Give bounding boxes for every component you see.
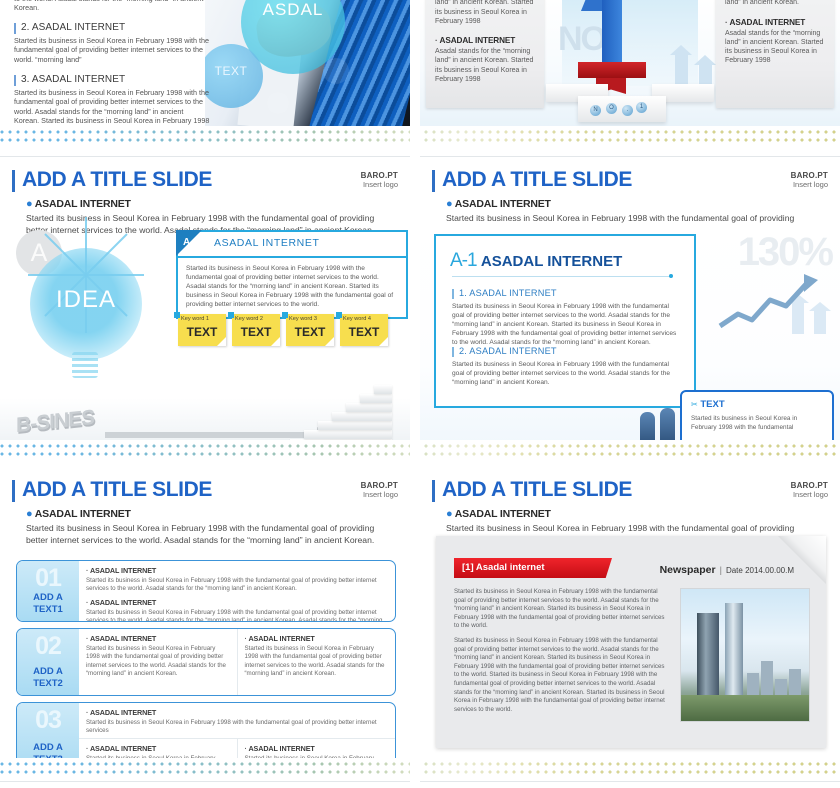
cell: · ASADAL INTERNET Started its business i… (79, 739, 237, 760)
row-label-line2: TEXT2 (33, 678, 63, 689)
sub-heading-text: ASADAL INTERNET (455, 508, 551, 520)
red-tag[interactable]: [1] Asadal internet (454, 558, 612, 578)
trend-arrow-icon (712, 270, 834, 336)
slide-thumbnail-6[interactable]: ADD A TITLE SLIDE BARO.PT Insert logo ● … (420, 470, 840, 760)
meta-divider: | (720, 565, 722, 575)
keyword-label: Key word 4 (343, 316, 371, 322)
cell-item-body: Started its business in Seoul Korea in F… (86, 645, 230, 679)
growth-chart-graphic (712, 270, 834, 336)
row-label-line1: ADD A (33, 742, 63, 753)
keyword-text: TEXT (178, 325, 226, 339)
slide6-body: [1] Asadal internet Newspaper|Date 2014.… (420, 532, 840, 754)
pin-icon (228, 312, 234, 318)
ground-plane (681, 695, 809, 721)
row-number: 02 (17, 632, 79, 661)
logo-hint: Insert logo (791, 180, 828, 189)
section-2-body: Started its business in Seoul Korea in F… (452, 360, 680, 387)
panel-item-body: Asadal stands for the “morning land” in … (435, 0, 535, 26)
number-column: 03 ADD A TEXT3 (17, 703, 79, 760)
logo-block: BARO.PT Insert logo (791, 481, 828, 499)
medal-icon: N (590, 105, 601, 116)
page-title: ADD A TITLE SLIDE (22, 168, 398, 192)
card-a-body: Started its business in Seoul Korea in F… (178, 258, 406, 317)
newspaper-date: Date 2014.00.00.M (726, 566, 794, 575)
idea-bulb: IDEA (30, 248, 142, 360)
percent-ghost: 130% (738, 230, 832, 275)
slide1-canvas: ASDAL TEXT with the fundamental goal of … (0, 0, 410, 128)
item-bullet-icon: · (86, 744, 88, 753)
logo-name: BARO.PT (361, 481, 398, 490)
red-ribbon (578, 62, 646, 78)
keyword-label: Key word 2 (235, 316, 263, 322)
ray-icon (85, 217, 87, 275)
keyword-note[interactable]: Key word 4 TEXT (340, 314, 388, 346)
article-text: Started its business in Seoul Korea in F… (454, 588, 670, 722)
dot-separator-band-1 (0, 126, 840, 160)
sub-heading: ● ASADAL INTERNET (26, 198, 398, 210)
item-bullet-icon: · (86, 634, 88, 643)
dot-pattern (0, 762, 840, 778)
cell: · ASADAL INTERNET Started its business i… (79, 629, 237, 695)
slide4-body: 130% A-1 ASADAL INTERNET 1. ASADAL INTER… (420, 224, 840, 460)
keyword-label: Key word 3 (289, 316, 317, 322)
keyword-note[interactable]: Key word 1 TEXT (178, 314, 226, 346)
title-accent-bar (432, 480, 435, 502)
item-bullet-icon: · (435, 36, 438, 45)
number-column: 02 ADD A TEXT2 (17, 629, 79, 695)
section-2: 2. ASADAL INTERNET Started its business … (452, 346, 680, 387)
logo-block: BARO.PT Insert logo (361, 481, 398, 499)
medal-icon: O (606, 103, 617, 114)
section-1: 1. ASADAL INTERNET Started its business … (452, 288, 680, 347)
newspaper-card: [1] Asadal internet Newspaper|Date 2014.… (436, 536, 826, 748)
bulb-socket (72, 352, 98, 378)
keyword-note-group: Key word 1 TEXT Key word 2 TEXT Key word… (178, 314, 388, 346)
code-text: A-1 (450, 250, 477, 271)
cell-item-head-text: ASADAL INTERNET (90, 566, 156, 575)
masthead: Newspaper (660, 564, 716, 576)
hairline (0, 156, 840, 157)
cell-item-head: · ASADAL INTERNET (245, 634, 389, 643)
list-item-3-head: 3. ASADAL INTERNET (14, 74, 210, 85)
cell-item-head-text: ASADAL INTERNET (248, 744, 314, 753)
cell-item-body: Started its business in Seoul Korea in F… (86, 577, 388, 594)
logo-hint: Insert logo (361, 180, 398, 189)
left-info-panel: · ASADAL INTERNET Asadal stands for the … (426, 0, 544, 108)
bubble-decor (323, 58, 349, 84)
city-photo (680, 588, 810, 722)
item-bullet-icon: · (245, 744, 247, 753)
row-label-line1: ADD A (33, 592, 63, 603)
row-label: ADD A TEXT2 (17, 666, 79, 690)
section-2-head: 2. ASADAL INTERNET (452, 346, 680, 356)
sub-heading: ● ASADAL INTERNET (446, 508, 828, 520)
cell-item: · ASADAL INTERNET Started its business i… (86, 598, 388, 622)
panel-item: · ASADAL INTERNET Asadal stands for the … (725, 0, 825, 8)
row-cells: · ASADAL INTERNET Started its business i… (79, 629, 395, 695)
ray-icon (86, 274, 144, 276)
stairs-graphic (290, 356, 410, 448)
idea-label: IDEA (30, 286, 142, 314)
row-label: ADD A TEXT1 (17, 592, 79, 616)
tower-building (697, 613, 719, 699)
keyword-text: TEXT (232, 325, 280, 339)
keyword-note[interactable]: Key word 3 TEXT (286, 314, 334, 346)
slide5-body: 01 ADD A TEXT1 · ASADAL INTERNET Started… (0, 532, 410, 754)
cell-item-head-text: ASADAL INTERNET (248, 634, 314, 643)
panel-item-body: Asadal stands for the “morning land” in … (725, 29, 825, 66)
dot-pattern (0, 444, 840, 460)
newspaper-meta: Newspaper|Date 2014.00.00.M (660, 564, 794, 576)
cell-item-body: Started its business in Seoul Korea in F… (245, 645, 389, 679)
number-column: 01 ADD A TEXT1 (17, 561, 79, 621)
list-item-2: 2. ASADAL INTERNET Started its business … (14, 22, 210, 65)
slide3-header: ADD A TITLE SLIDE BARO.PT Insert logo ● … (0, 160, 410, 236)
right-info-panel: · ASADAL INTERNET Asadal stands for the … (716, 0, 834, 108)
page-title: ADD A TITLE SLIDE (22, 478, 398, 502)
panel-item-head: · ASADAL INTERNET (435, 36, 535, 45)
panel-item-body: Asadal stands for the “morning land” in … (725, 0, 825, 8)
cell: · ASADAL INTERNET Started its business i… (79, 561, 395, 621)
cell-item-head: · ASADAL INTERNET (86, 634, 230, 643)
cell-item-head: · ASADAL INTERNET (86, 708, 388, 717)
panel-item: · ASADAL INTERNET Asadal stands for the … (725, 18, 825, 66)
slide-thumbnail-5[interactable]: ADD A TITLE SLIDE BARO.PT Insert logo ● … (0, 470, 410, 760)
slide2-canvas: · ASADAL INTERNET Asadal stands for the … (420, 0, 840, 128)
panel-item-head-text: ASADAL INTERNET (440, 36, 516, 45)
sub-bullet-icon: ● (446, 198, 452, 210)
businessman-photo: ASDAL TEXT (205, 0, 410, 128)
slide-thumbnail-3[interactable]: ADD A TITLE SLIDE BARO.PT Insert logo ● … (0, 160, 410, 460)
keyword-note[interactable]: Key word 2 TEXT (232, 314, 280, 346)
cell-item-head-text: ASADAL INTERNET (90, 708, 156, 717)
panel-item: · ASADAL INTERNET Asadal stands for the … (435, 0, 535, 26)
numbered-row-02[interactable]: 02 ADD A TEXT2 · ASADAL INTERNET Started… (16, 628, 396, 696)
text-callout-box: ✂ TEXT Started its business in Seoul Kor… (680, 390, 834, 446)
text-orb-label: TEXT (205, 64, 263, 78)
cell-item-head-text: ASADAL INTERNET (90, 744, 156, 753)
dot-separator-band-2 (0, 440, 840, 474)
scissors-icon: ✂ (691, 400, 698, 409)
template-preview-sheet: ASDAL TEXT with the fundamental goal of … (0, 0, 840, 788)
medal-icon: 1 (636, 102, 647, 113)
page-curl-icon (778, 536, 826, 584)
sub-bullet-icon: ● (446, 508, 452, 520)
keyword-text: TEXT (340, 325, 388, 339)
section-1-head: 1. ASADAL INTERNET (452, 288, 680, 298)
row-label-line2: TEXT1 (33, 604, 63, 615)
bubble-decor (267, 92, 289, 114)
callout-head-text: TEXT (700, 399, 724, 410)
progress-arrow-icon (105, 432, 318, 438)
pin-icon (336, 312, 342, 318)
row-label-line1: ADD A (33, 666, 63, 677)
callout-head: ✂ TEXT (691, 399, 725, 410)
podium-stage: NO. N O . 1 (550, 0, 710, 128)
sub-heading-text: ASADAL INTERNET (455, 198, 551, 210)
cell-bottom-pair: · ASADAL INTERNET Started its business i… (79, 738, 395, 760)
keyword-label: Key word 1 (181, 316, 209, 322)
row-number: 03 (17, 706, 79, 735)
logo-hint: Insert logo (361, 490, 398, 499)
cell-item-body: Started its business in Seoul Korea in F… (86, 719, 388, 736)
pin-icon (174, 312, 180, 318)
newspaper-columns: Started its business in Seoul Korea in F… (454, 588, 810, 722)
sub-bullet-icon: ● (26, 508, 32, 520)
sub-bullet-icon: ● (26, 198, 32, 210)
cell-item-head: · ASADAL INTERNET (86, 598, 388, 607)
numbered-row-03[interactable]: 03 ADD A TEXT3 · ASADAL INTERNET Started… (16, 702, 396, 760)
item-bullet-icon: · (86, 708, 88, 717)
item-bullet-icon: · (245, 634, 247, 643)
title-accent-bar (12, 480, 15, 502)
dot-separator-band-3 (0, 758, 840, 788)
cell-top: · ASADAL INTERNET Started its business i… (79, 703, 395, 738)
item-bullet-icon: · (86, 598, 88, 607)
panel-item: · ASADAL INTERNET Asadal stands for the … (435, 36, 535, 84)
card-a: A. ASADAL INTERNET Started its business … (176, 230, 408, 319)
hairline (0, 781, 840, 782)
sub-heading: ● ASADAL INTERNET (26, 508, 398, 520)
ray-icon (85, 233, 127, 275)
sub-heading-text: ASADAL INTERNET (35, 508, 131, 520)
slide-thumbnail-1[interactable]: ASDAL TEXT with the fundamental goal of … (0, 0, 410, 128)
cell-item-head: · ASADAL INTERNET (245, 744, 389, 753)
item-bullet-icon: · (725, 18, 728, 27)
asdal-orb-label: ASDAL (241, 0, 345, 20)
list-item-2-head: 2. ASADAL INTERNET (14, 22, 210, 33)
title-accent-bar (12, 170, 15, 192)
logo-block: BARO.PT Insert logo (791, 171, 828, 189)
ray-icon (28, 274, 86, 276)
logo-name: BARO.PT (361, 171, 398, 180)
sub-heading-text: ASADAL INTERNET (35, 198, 131, 210)
dot-pattern (0, 130, 840, 146)
pin-icon (282, 312, 288, 318)
panel-item-head-text: ASADAL INTERNET (730, 18, 806, 27)
cell-item-head-text: ASADAL INTERNET (90, 598, 156, 607)
card-a-letter: A. (183, 237, 193, 248)
row-number: 01 (17, 564, 79, 593)
numbered-row-01[interactable]: 01 ADD A TEXT1 · ASADAL INTERNET Started… (16, 560, 396, 622)
list-item-3-body: Started its business in Seoul Korea in F… (14, 88, 210, 128)
row-cells: · ASADAL INTERNET Started its business i… (79, 561, 395, 621)
panel-item-body: Asadal stands for the “morning land” in … (435, 47, 535, 84)
logo-name: BARO.PT (791, 171, 828, 180)
intro-tail-block: with the fundamental goal of providing b… (14, 0, 210, 13)
code-label: A-1 ASADAL INTERNET (450, 250, 622, 272)
logo-hint: Insert logo (791, 490, 828, 499)
slide3-body: A IDEA B-SINES (0, 226, 410, 460)
page-title: ADD A TITLE SLIDE (442, 478, 828, 502)
list-item-3: 3. ASADAL INTERNET Started its business … (14, 74, 210, 128)
logo-name: BARO.PT (791, 481, 828, 490)
keyword-text: TEXT (286, 325, 334, 339)
cell: · ASADAL INTERNET Started its business i… (237, 629, 396, 695)
card-a-tab: A. ASADAL INTERNET (178, 232, 406, 258)
box-a1: A-1 ASADAL INTERNET 1. ASADAL INTERNET S… (434, 234, 696, 408)
item-bullet-icon: · (86, 566, 88, 575)
article-paragraph: Started its business in Seoul Korea in F… (454, 637, 670, 714)
cell: · ASADAL INTERNET Started its business i… (237, 739, 396, 760)
medal-icon: . (622, 105, 633, 116)
red-tag-label: [1] Asadal internet (462, 562, 545, 573)
page-title: ADD A TITLE SLIDE (442, 168, 828, 192)
code-title: ASADAL INTERNET (481, 253, 622, 270)
section-1-body: Started its business in Seoul Korea in F… (452, 302, 680, 347)
cell-item-head-text: ASADAL INTERNET (90, 634, 156, 643)
article-paragraph: Started its business in Seoul Korea in F… (454, 588, 670, 631)
cell-item-head: · ASADAL INTERNET (86, 566, 388, 575)
sub-heading: ● ASADAL INTERNET (446, 198, 828, 210)
row-cells: · ASADAL INTERNET Started its business i… (79, 703, 395, 760)
list-item-2-body: Started its business in Seoul Korea in F… (14, 36, 210, 65)
slide1-text-column: with the fundamental goal of providing b… (14, 0, 210, 128)
card-a-title: ASADAL INTERNET (214, 237, 319, 249)
slide-thumbnail-2[interactable]: · ASADAL INTERNET Asadal stands for the … (420, 0, 840, 128)
cell-item-body: Started its business in Seoul Korea in F… (86, 609, 388, 622)
callout-body: Started its business in Seoul Korea in F… (691, 414, 824, 432)
column-gutter (410, 0, 420, 788)
title-rule (452, 276, 670, 277)
logo-block: BARO.PT Insert logo (361, 171, 398, 189)
cell-item-head: · ASADAL INTERNET (86, 744, 230, 753)
panel-item-head: · ASADAL INTERNET (725, 18, 825, 27)
intro-tail-text: with the fundamental goal of providing b… (14, 0, 210, 13)
slide-thumbnail-4[interactable]: ADD A TITLE SLIDE BARO.PT Insert logo ● … (420, 160, 840, 460)
cell-item: · ASADAL INTERNET Started its business i… (86, 566, 388, 594)
title-accent-bar (432, 170, 435, 192)
tower-building (725, 603, 743, 699)
